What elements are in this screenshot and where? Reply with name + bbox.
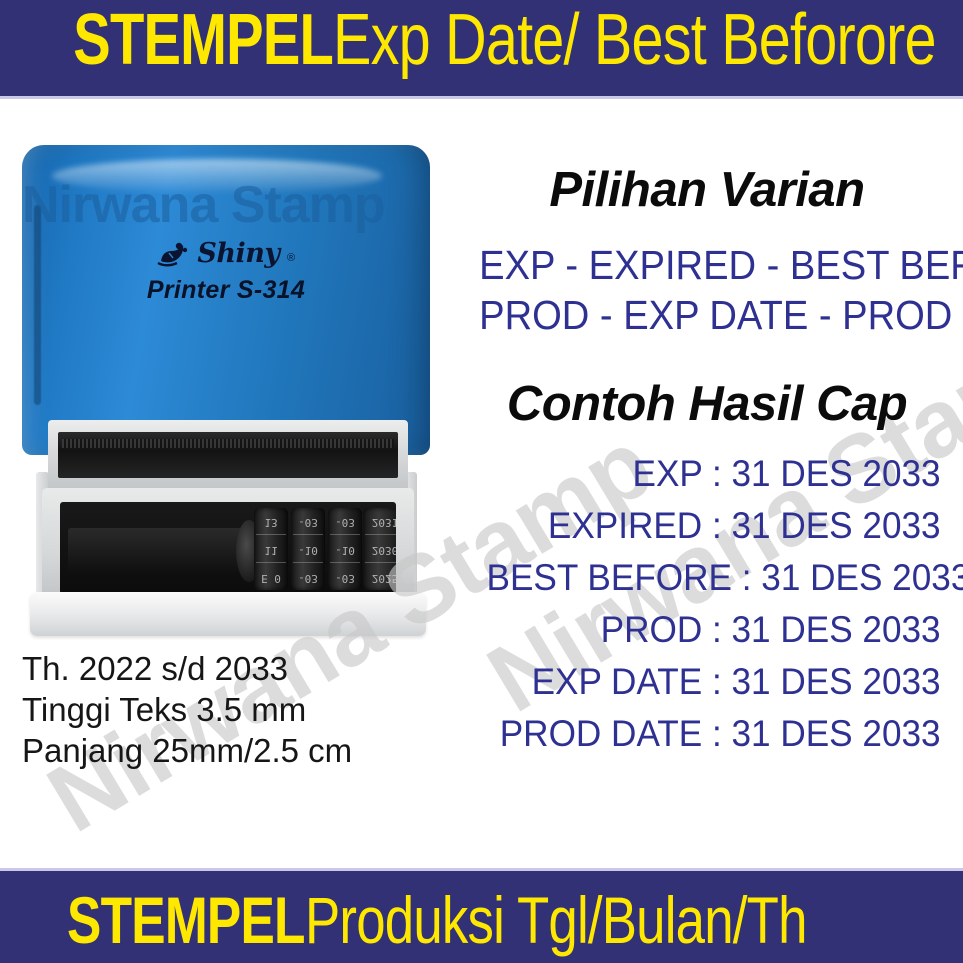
band-digit: 2031 [363,516,396,529]
sample-line: EXP : 31 DES 2033 [487,448,953,500]
heading-samples: Contoh Hasil Cap [462,376,952,432]
stamp-base-plate [30,592,426,636]
band-digit: 2030 [363,544,396,557]
sample-results-list: EXP : 31 DES 2033 EXPIRED : 31 DES 2033 … [462,448,952,760]
variant-line: EXP - EXPIRED - BEST BEFORE [479,240,935,290]
registered-trademark-icon: ® [287,241,295,275]
spec-line-length: Panjang 25mm/2.5 cm [22,730,452,771]
heading-variants: Pilihan Varian [462,162,952,218]
spec-line-text-height: Tinggi Teks 3.5 mm [22,689,452,730]
band-digit: -03 [291,516,325,529]
stamp-blue-body: Shiny ® Printer S-314 [22,145,430,455]
sample-line: BEST BEFORE : 31 DES 2033 [487,552,953,604]
date-band-day[interactable]: 13 11 E 0 [254,508,288,590]
bottom-banner-text: STEMPELProduksi Tgl/Bulan/ThBISA DIRUBAH [0,887,963,953]
rubber-die-plate [68,528,244,572]
band-digit: -10 [291,544,325,557]
top-banner-normal: Exp Date/ Best Beforore [333,4,936,76]
shiny-flame-icon [157,241,191,267]
product-photo: Shiny ® Printer S-314 13 11 E 0 [0,120,460,640]
stamp-gloss-highlight [52,159,382,193]
band-digit: -10 [328,544,362,557]
bottom-banner-normal: Produksi Tgl/Bulan/Th [305,887,807,953]
date-band-month[interactable]: -03 -10 -03 [291,508,325,590]
sample-line: EXPIRED : 31 DES 2033 [487,500,953,552]
right-info-column: Pilihan Varian EXP - EXPIRED - BEST BEFO… [462,120,952,760]
top-banner-strong: STEMPEL [73,4,333,76]
date-band-month-2[interactable]: -03 -10 -03 [328,508,362,590]
sample-line: PROD DATE : 31 DES 2033 [487,708,953,760]
top-banner-text: STEMPELExp Date/ Best Beforore [0,4,963,76]
sample-line: EXP DATE : 31 DES 2033 [487,656,953,708]
specifications-block: Th. 2022 s/d 2033 Tinggi Teks 3.5 mm Pan… [22,648,452,771]
band-digit: -03 [328,572,362,585]
spec-line-years: Th. 2022 s/d 2033 [22,648,452,689]
stamp-date-window: 13 11 E 0 -03 -10 -03 -03 -10 -03 [60,502,396,594]
band-digit: -03 [291,572,325,585]
top-banner: STEMPELExp Date/ Best Beforore [0,0,963,99]
bottom-banner: STEMPELProduksi Tgl/Bulan/ThBISA DIRUBAH [0,868,963,963]
variant-line: PROD - EXP DATE - PROD DATE [479,290,935,340]
printer-model-label: Printer S-314 [22,276,430,305]
sample-line: PROD : 31 DES 2033 [487,604,953,656]
shiny-wordmark: Shiny [197,237,279,271]
band-digit: E 0 [254,572,288,585]
stamp-ink-pad-bar [58,432,398,478]
bottom-banner-strong: STEMPEL [67,887,305,953]
variant-options-list: EXP - EXPIRED - BEST BEFORE PROD - EXP D… [462,240,952,340]
band-digit: 11 [254,544,288,557]
band-digit: -03 [328,516,362,529]
band-digit: 2025 [363,572,396,585]
shiny-logo: Shiny ® [157,233,295,267]
stamp-branding: Shiny ® Printer S-314 [22,233,430,305]
band-digit: 13 [254,516,288,529]
product-listing-image: STEMPELExp Date/ Best Beforore [0,0,963,963]
shiny-flame-svg [157,241,191,267]
date-band-year[interactable]: 2031 2030 2025 [363,508,396,590]
